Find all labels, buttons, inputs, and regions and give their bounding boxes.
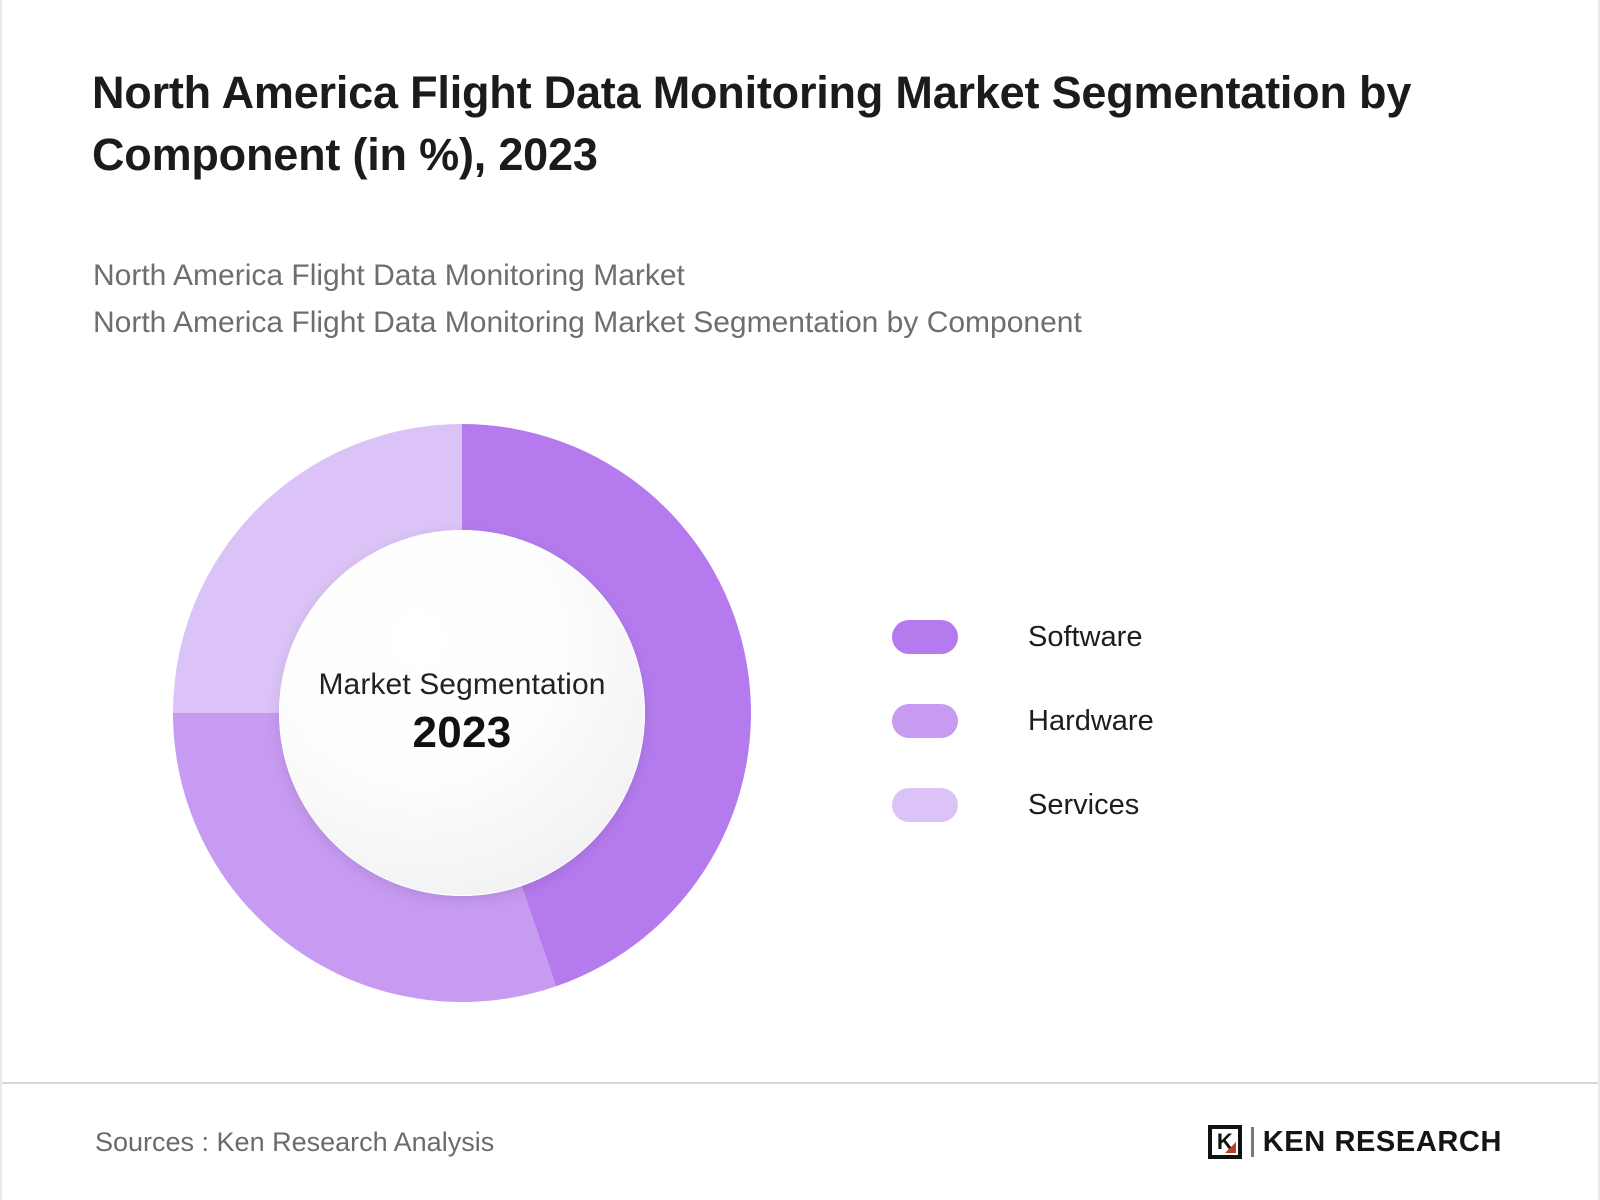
legend-item-software[interactable]: Software — [892, 595, 1154, 679]
sources-text: Sources : Ken Research Analysis — [95, 1127, 494, 1158]
donut-center-label: Market Segmentation — [318, 668, 605, 702]
legend-swatch-icon — [892, 620, 958, 654]
donut-center: Market Segmentation 2023 — [279, 530, 645, 896]
legend-swatch-icon — [892, 788, 958, 822]
legend-label: Software — [1028, 621, 1142, 654]
legend-label: Services — [1028, 789, 1139, 822]
legend-label: Hardware — [1028, 705, 1154, 738]
donut-graphic: Market Segmentation 2023 — [173, 424, 751, 1002]
page-title: North America Flight Data Monitoring Mar… — [92, 62, 1522, 186]
donut-center-year: 2023 — [412, 708, 511, 758]
chart-footer: Sources : Ken Research Analysis K KEN RE… — [2, 1082, 1598, 1200]
chart-legend: Software Hardware Services — [892, 595, 1154, 847]
chart-content: North America Flight Data Monitoring Mar… — [2, 0, 1598, 1082]
subtitle-line-1: North America Flight Data Monitoring Mar… — [93, 252, 1493, 299]
chart-card: North America Flight Data Monitoring Mar… — [0, 0, 1600, 1200]
ken-research-logo: K KEN RESEARCH — [1208, 1123, 1502, 1161]
donut-chart: Market Segmentation 2023 Software Hardwa… — [2, 390, 1542, 1050]
subtitle-line-2: North America Flight Data Monitoring Mar… — [93, 299, 1493, 346]
legend-swatch-icon — [892, 704, 958, 738]
logo-wordmark: KEN RESEARCH — [1263, 1126, 1502, 1159]
logo-k-mark-icon: K — [1208, 1125, 1242, 1159]
chart-subtitle: North America Flight Data Monitoring Mar… — [93, 252, 1493, 347]
legend-item-hardware[interactable]: Hardware — [892, 679, 1154, 763]
logo-divider — [1251, 1127, 1254, 1157]
legend-item-services[interactable]: Services — [892, 763, 1154, 847]
